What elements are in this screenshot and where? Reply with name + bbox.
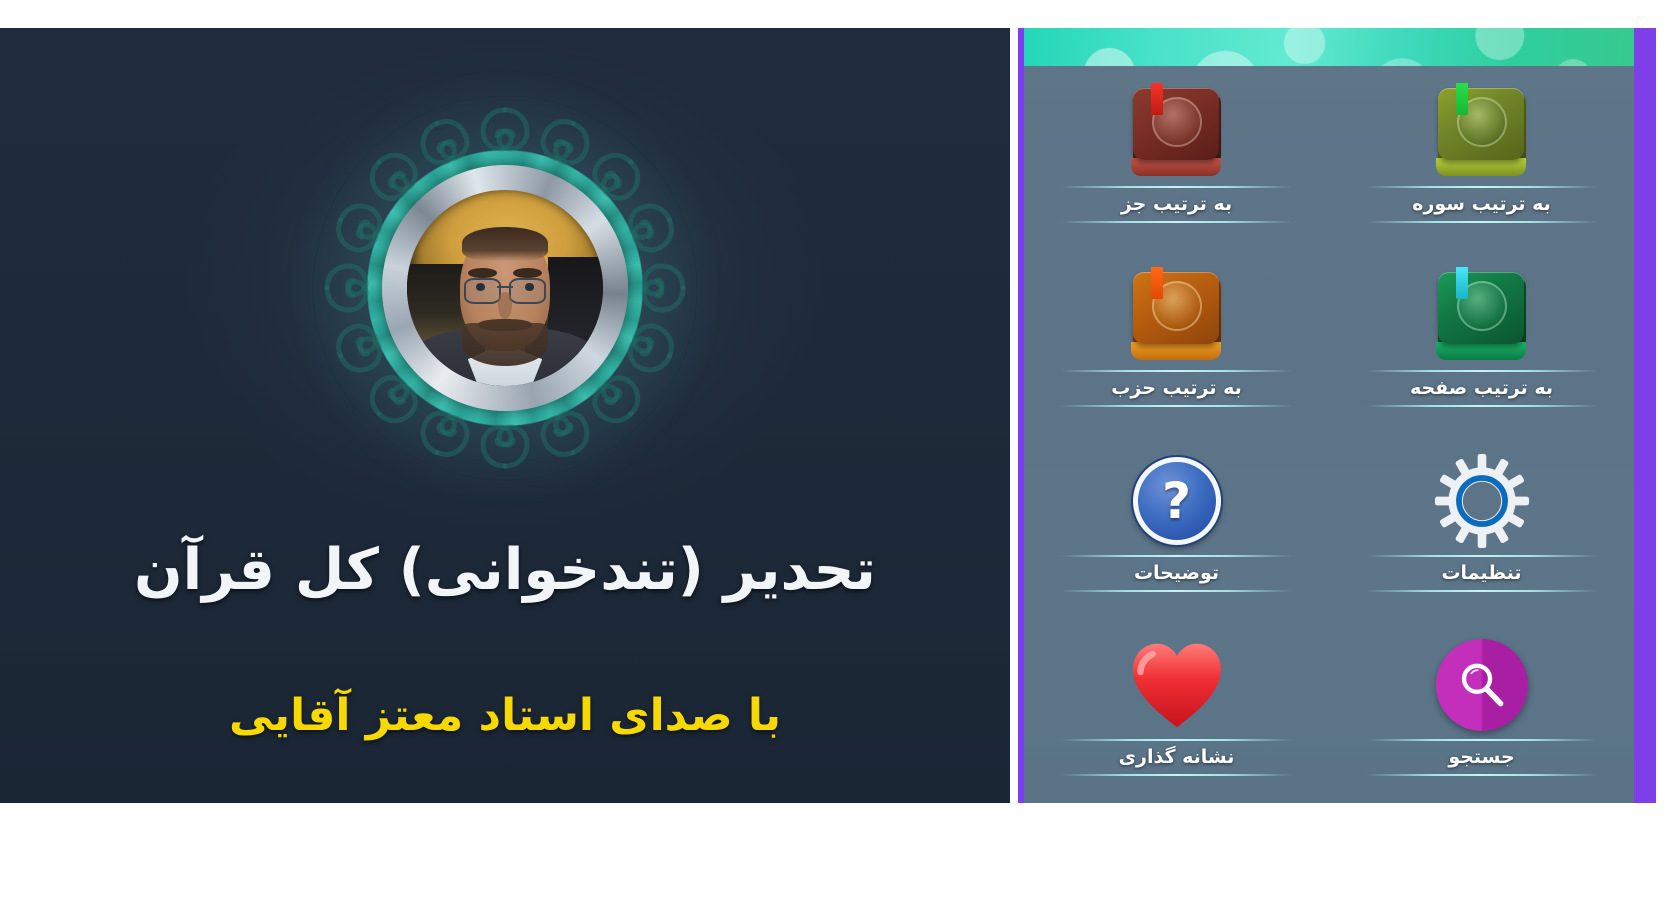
menu-item-label: به ترتیب صفحه bbox=[1350, 370, 1612, 407]
menu-grid: به ترتیب سورهبه ترتیب جزبه ترتیب صفحهبه … bbox=[1024, 66, 1634, 803]
menu-item-label: به ترتیب سوره bbox=[1350, 186, 1612, 223]
menu-item-settings[interactable]: تنظیمات bbox=[1329, 435, 1634, 619]
splash-panel: تحدیر (تندخوانی) کل قرآن با صدای استاد م… bbox=[0, 28, 1010, 803]
menu-item-search[interactable]: جستجو bbox=[1329, 619, 1634, 803]
page-title: تحدیر (تندخوانی) کل قرآن bbox=[0, 536, 1010, 606]
reciter-photo bbox=[407, 190, 603, 386]
book-orange-icon bbox=[1129, 262, 1225, 370]
reciter-portrait-emblem bbox=[311, 94, 699, 482]
page-subtitle: با صدای استاد معتز آقایی bbox=[0, 688, 1010, 743]
heart-icon bbox=[1130, 631, 1224, 739]
bokeh-banner bbox=[1024, 28, 1634, 66]
menu-item-bookmarks[interactable]: نشانه گذاری bbox=[1024, 619, 1329, 803]
menu-item-label: توضیحات bbox=[1045, 555, 1307, 592]
menu-item-label: تنظیمات bbox=[1350, 555, 1612, 592]
app-screenshot: تحدیر (تندخوانی) کل قرآن با صدای استاد م… bbox=[0, 0, 1676, 900]
menu-item-by-juz[interactable]: به ترتیب جز bbox=[1024, 66, 1329, 250]
menu-item-label: جستجو bbox=[1350, 739, 1612, 776]
book-olive-icon bbox=[1434, 78, 1530, 186]
menu-item-by-surah[interactable]: به ترتیب سوره bbox=[1329, 66, 1634, 250]
menu-panel: به ترتیب سورهبه ترتیب جزبه ترتیب صفحهبه … bbox=[1018, 28, 1656, 803]
search-icon bbox=[1436, 631, 1528, 739]
menu-item-by-page[interactable]: به ترتیب صفحه bbox=[1329, 250, 1634, 434]
gear-icon bbox=[1434, 447, 1530, 555]
book-darkred-icon bbox=[1129, 78, 1225, 186]
menu-item-about[interactable]: ?توضیحات bbox=[1024, 435, 1329, 619]
menu-item-label: نشانه گذاری bbox=[1045, 739, 1307, 776]
menu-item-label: به ترتیب حزب bbox=[1045, 370, 1307, 407]
menu-item-label: به ترتیب جز bbox=[1045, 186, 1307, 223]
question-mark-icon: ? bbox=[1133, 447, 1221, 555]
book-green-icon bbox=[1434, 262, 1530, 370]
menu-item-by-hizb[interactable]: به ترتیب حزب bbox=[1024, 250, 1329, 434]
